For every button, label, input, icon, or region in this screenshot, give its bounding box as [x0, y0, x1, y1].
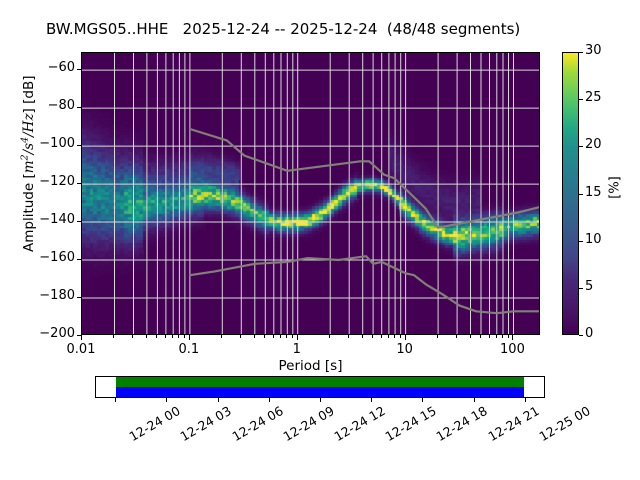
x-axis-tick-mark-minor — [348, 335, 349, 338]
x-axis-tick-label: 1 — [267, 342, 327, 357]
psd-histogram-heatmap — [82, 53, 540, 335]
colorbar-tick-label: 10 — [585, 232, 609, 247]
x-axis-tick-mark-major — [405, 335, 406, 340]
y-axis-tick-label: −200 — [37, 326, 75, 341]
timeline-tick-label: 12-25 00 — [536, 403, 592, 444]
colorbar-label: [%] — [608, 173, 623, 203]
timeline-tick-mark — [115, 398, 116, 402]
x-axis-tick-mark-minor — [437, 335, 438, 338]
x-axis-tick-mark-minor — [240, 335, 241, 338]
y-axis-tick-label: −180 — [37, 288, 75, 303]
y-axis-tick-label: −80 — [37, 98, 75, 113]
x-axis-tick-mark-minor — [400, 335, 401, 338]
timeline-tick-label: 12-24 15 — [383, 403, 439, 444]
x-axis-tick-mark-minor — [381, 335, 382, 338]
timeline-tick-mark — [474, 398, 475, 402]
x-axis-tick-mark-minor — [280, 335, 281, 338]
x-axis-tick-mark-minor — [372, 335, 373, 338]
x-axis-tick-mark-minor — [178, 335, 179, 338]
x-axis-tick-mark-minor — [362, 335, 363, 338]
x-axis-tick-mark-minor — [489, 335, 490, 338]
x-axis-tick-mark-minor — [502, 335, 503, 338]
x-axis-tick-mark-minor — [286, 335, 287, 338]
timeline-tick-label: 12-24 18 — [434, 403, 490, 444]
x-axis-tick-mark-minor — [146, 335, 147, 338]
colorbar-tick-label: 30 — [585, 43, 609, 58]
x-axis-tick-mark-major — [81, 335, 82, 340]
y-axis-label: Amplitude [m2/s4/Hz] [dB] — [19, 19, 37, 309]
y-axis-tick-mark — [77, 183, 81, 184]
y-axis-tick-mark — [77, 145, 81, 146]
x-axis-tick-label: 0.1 — [159, 342, 219, 357]
x-axis-tick-mark-minor — [172, 335, 173, 338]
x-axis-tick-mark-minor — [496, 335, 497, 338]
colorbar-tick-mark — [579, 241, 583, 242]
x-axis-tick-mark-minor — [394, 335, 395, 338]
x-axis-tick-mark-major — [512, 335, 513, 340]
y-axis-tick-label: −60 — [37, 60, 75, 75]
timeline-tick-mark — [371, 398, 372, 402]
y-axis-tick-mark — [77, 297, 81, 298]
colorbar-tick-mark — [579, 99, 583, 100]
y-axis-tick-label: −160 — [37, 250, 75, 265]
timeline-tick-label: 12-24 09 — [280, 403, 336, 444]
timeline-tick-label: 12-24 00 — [127, 403, 183, 444]
x-axis-tick-label: 10 — [375, 342, 435, 357]
x-axis-tick-mark-minor — [184, 335, 185, 338]
x-axis-tick-mark-major — [189, 335, 190, 340]
x-axis-tick-mark-minor — [470, 335, 471, 338]
x-axis-tick-mark-minor — [329, 335, 330, 338]
colorbar-tick-mark — [579, 146, 583, 147]
psd-plot-area[interactable] — [81, 52, 540, 335]
y-axis-tick-label: −120 — [37, 174, 75, 189]
y-axis-tick-label: −100 — [37, 136, 75, 151]
timeline-band-blue — [116, 387, 524, 397]
colorbar-tick-mark — [579, 52, 583, 53]
timeline-coverage-bar[interactable] — [95, 376, 545, 398]
x-axis-tick-mark-minor — [132, 335, 133, 338]
x-axis-tick-mark-minor — [264, 335, 265, 338]
x-axis-tick-mark-minor — [221, 335, 222, 338]
colorbar-tick-label: 0 — [585, 326, 609, 341]
timeline-tick-mark — [525, 398, 526, 402]
colorbar[interactable] — [562, 52, 579, 335]
timeline-tick-mark — [269, 398, 270, 402]
timeline-tick-label: 12-24 12 — [332, 403, 388, 444]
timeline-tick-mark — [166, 398, 167, 402]
colorbar-tick-label: 25 — [585, 90, 609, 105]
x-axis-tick-mark-major — [297, 335, 298, 340]
timeline-tick-mark — [422, 398, 423, 402]
colorbar-tick-label: 5 — [585, 279, 609, 294]
y-axis-tick-label: −140 — [37, 212, 75, 227]
x-axis-tick-mark-minor — [292, 335, 293, 338]
timeline-tick-label: 12-24 06 — [229, 403, 285, 444]
x-axis-tick-mark-minor — [456, 335, 457, 338]
colorbar-tick-mark — [579, 288, 583, 289]
y-axis-tick-mark — [77, 259, 81, 260]
page-title: BW.MGS05..HHE 2025-12-24 -- 2025-12-24 (… — [46, 20, 586, 38]
y-axis-tick-mark — [77, 69, 81, 70]
timeline-tick-label: 12-24 03 — [178, 403, 234, 444]
y-axis-tick-mark — [77, 107, 81, 108]
timeline-tick-mark — [218, 398, 219, 402]
ppsd-figure: BW.MGS05..HHE 2025-12-24 -- 2025-12-24 (… — [0, 0, 640, 480]
y-axis-label-text: Amplitude [ — [21, 173, 37, 252]
x-axis-tick-label: 0.01 — [51, 342, 111, 357]
x-axis-tick-mark-minor — [113, 335, 114, 338]
x-axis-label: Period [s] — [81, 358, 540, 374]
timeline-tick-label: 12-24 21 — [485, 403, 541, 444]
colorbar-tick-label: 15 — [585, 185, 609, 200]
colorbar-tick-label: 20 — [585, 137, 609, 152]
timeline-band-green — [116, 377, 524, 387]
x-axis-tick-mark-minor — [388, 335, 389, 338]
x-axis-tick-mark-minor — [480, 335, 481, 338]
y-axis-tick-mark — [77, 221, 81, 222]
timeline-tick-mark — [320, 398, 321, 402]
x-axis-tick-mark-minor — [156, 335, 157, 338]
x-axis-tick-mark-minor — [165, 335, 166, 338]
x-axis-tick-mark-minor — [508, 335, 509, 338]
x-axis-tick-label: 100 — [482, 342, 542, 357]
colorbar-tick-mark — [579, 335, 583, 336]
y-axis-label-text-2: ] [dB] — [21, 76, 37, 114]
colorbar-tick-mark — [579, 194, 583, 195]
x-axis-tick-mark-minor — [273, 335, 274, 338]
x-axis-tick-mark-minor — [254, 335, 255, 338]
